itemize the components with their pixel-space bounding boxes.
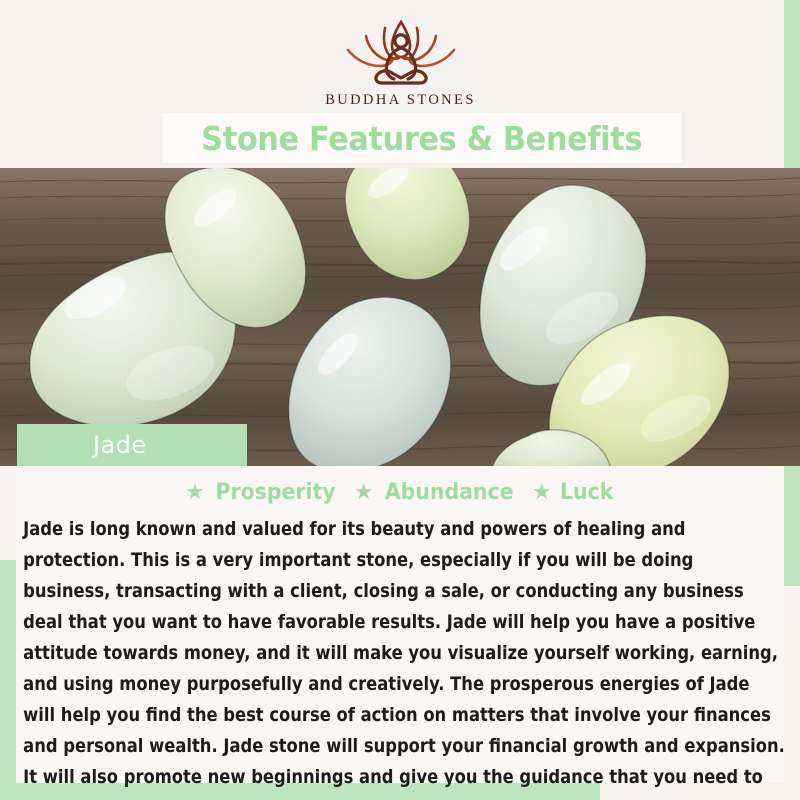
star-icon: ★ [354, 481, 374, 503]
benefit-label: Abundance [384, 480, 513, 505]
star-icon: ★ [185, 481, 205, 503]
stone-description: Jade is long known and valued for its be… [16, 514, 791, 800]
lotus-meditation-icon [326, 16, 476, 88]
brand-logo: BUDDHA STONES [17, 16, 784, 109]
benefits-list: ★ Prosperity ★ Abundance ★ Luck [16, 466, 784, 510]
decor-band-right-upper [784, 0, 800, 176]
page-title: Stone Features & Benefits [202, 119, 643, 158]
content-panel: ★ Prosperity ★ Abundance ★ Luck Jade is … [16, 466, 784, 783]
star-icon: ★ [532, 481, 552, 503]
infographic-poster: BUDDHA STONES Stone Features & Benefits [0, 0, 800, 800]
benefit-item-luck: ★ Luck [532, 480, 615, 505]
photo-illustration [0, 168, 800, 466]
stone-name: Jade [93, 431, 146, 459]
title-banner: Stone Features & Benefits [162, 113, 682, 163]
stone-name-banner: Jade [17, 424, 247, 466]
benefit-item-abundance: ★ Abundance [354, 480, 518, 505]
poster-header: BUDDHA STONES Stone Features & Benefits [17, 0, 784, 168]
brand-name: BUDDHA STONES [325, 92, 476, 109]
benefit-label: Luck [560, 480, 613, 505]
benefit-label: Prosperity [215, 480, 335, 505]
decor-band-left-lower [0, 560, 16, 788]
jade-tumbled-stones-photo [0, 168, 800, 466]
benefit-item-prosperity: ★ Prosperity [185, 480, 340, 505]
